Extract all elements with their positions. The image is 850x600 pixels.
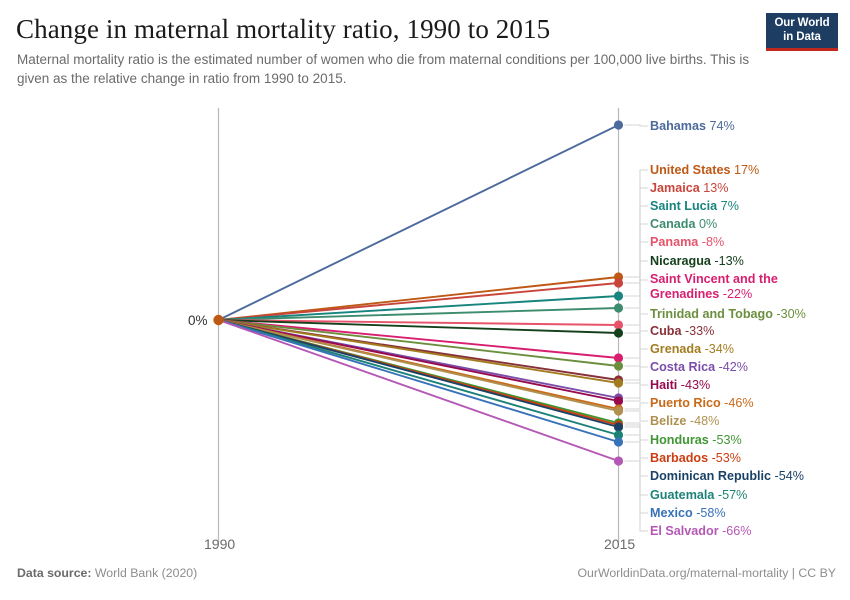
data-source-value: World Bank (2020): [95, 566, 197, 580]
series-label-name: Panama: [650, 235, 698, 249]
series-label-name: Grenada: [650, 342, 701, 356]
series-label[interactable]: Canada 0%: [650, 217, 717, 231]
series-label-name: Canada: [650, 217, 696, 231]
series-label-value: 17%: [730, 163, 759, 177]
series-label[interactable]: Saint Vincent and the Grenadines -22%: [650, 272, 790, 301]
series-label-name: Nicaragua: [650, 254, 711, 268]
series-label-name: Honduras: [650, 433, 709, 447]
series-label[interactable]: Guatemala -57%: [650, 488, 747, 502]
series-label-name: Trinidad and Tobago: [650, 307, 773, 321]
series-label[interactable]: Belize -48%: [650, 414, 719, 428]
series-label-name: Mexico: [650, 506, 693, 520]
series-label-name: Haiti: [650, 378, 677, 392]
data-source-note: Data source: World Bank (2020): [17, 566, 197, 580]
series-label-name: Barbados: [650, 451, 708, 465]
series-label-name: Jamaica: [650, 181, 700, 195]
footer-divider: [0, 556, 850, 557]
series-label-name: Costa Rica: [650, 360, 715, 374]
series-label-value: -34%: [701, 342, 734, 356]
series-label[interactable]: Dominican Republic -54%: [650, 469, 804, 483]
series-label-name: Guatemala: [650, 488, 714, 502]
credit-note[interactable]: OurWorldinData.org/maternal-mortality | …: [577, 566, 836, 580]
series-label-value: -13%: [711, 254, 744, 268]
series-label-name: Cuba: [650, 324, 681, 338]
series-label-value: 0%: [696, 217, 718, 231]
series-label[interactable]: Puerto Rico -46%: [650, 396, 754, 410]
series-label-value: -54%: [771, 469, 804, 483]
series-label-value: -58%: [693, 506, 726, 520]
series-label[interactable]: Trinidad and Tobago -30%: [650, 307, 806, 321]
series-label-value: -42%: [715, 360, 748, 374]
series-label-value: -66%: [719, 524, 752, 538]
series-label-value: -8%: [698, 235, 724, 249]
series-label[interactable]: United States 17%: [650, 163, 759, 177]
series-label[interactable]: Panama -8%: [650, 235, 724, 249]
series-label[interactable]: Honduras -53%: [650, 433, 742, 447]
series-label-value: -48%: [686, 414, 719, 428]
series-label-name: Saint Lucia: [650, 199, 717, 213]
series-label[interactable]: Nicaragua -13%: [650, 254, 744, 268]
series-label[interactable]: Mexico -58%: [650, 506, 726, 520]
series-label[interactable]: Cuba -33%: [650, 324, 714, 338]
series-label-value: -57%: [714, 488, 747, 502]
series-label-list: Bahamas 74%United States 17%Jamaica 13%S…: [0, 0, 850, 600]
series-label[interactable]: El Salvador -66%: [650, 524, 752, 538]
series-label-name: Belize: [650, 414, 686, 428]
series-label-value: -53%: [709, 433, 742, 447]
series-label-value: 7%: [717, 199, 739, 213]
series-label-value: -53%: [708, 451, 741, 465]
series-label[interactable]: Costa Rica -42%: [650, 360, 748, 374]
series-label[interactable]: Barbados -53%: [650, 451, 741, 465]
series-label[interactable]: Grenada -34%: [650, 342, 734, 356]
series-label-value: -22%: [719, 287, 752, 301]
chart-page: Change in maternal mortality ratio, 1990…: [0, 0, 850, 600]
series-label-value: -43%: [677, 378, 710, 392]
data-source-label: Data source:: [17, 566, 92, 580]
series-label-name: Bahamas: [650, 119, 706, 133]
series-label-name: United States: [650, 163, 730, 177]
series-label[interactable]: Saint Lucia 7%: [650, 199, 739, 213]
series-label-name: El Salvador: [650, 524, 719, 538]
series-label[interactable]: Haiti -43%: [650, 378, 710, 392]
series-label-value: -30%: [773, 307, 806, 321]
series-label[interactable]: Jamaica 13%: [650, 181, 728, 195]
series-label-value: 74%: [706, 119, 735, 133]
series-label-value: -33%: [681, 324, 714, 338]
series-label-name: Saint Vincent and the Grenadines: [650, 272, 778, 301]
series-label[interactable]: Bahamas 74%: [650, 119, 735, 133]
series-label-name: Puerto Rico: [650, 396, 721, 410]
series-label-name: Dominican Republic: [650, 469, 771, 483]
series-label-value: -46%: [721, 396, 754, 410]
series-label-value: 13%: [700, 181, 729, 195]
